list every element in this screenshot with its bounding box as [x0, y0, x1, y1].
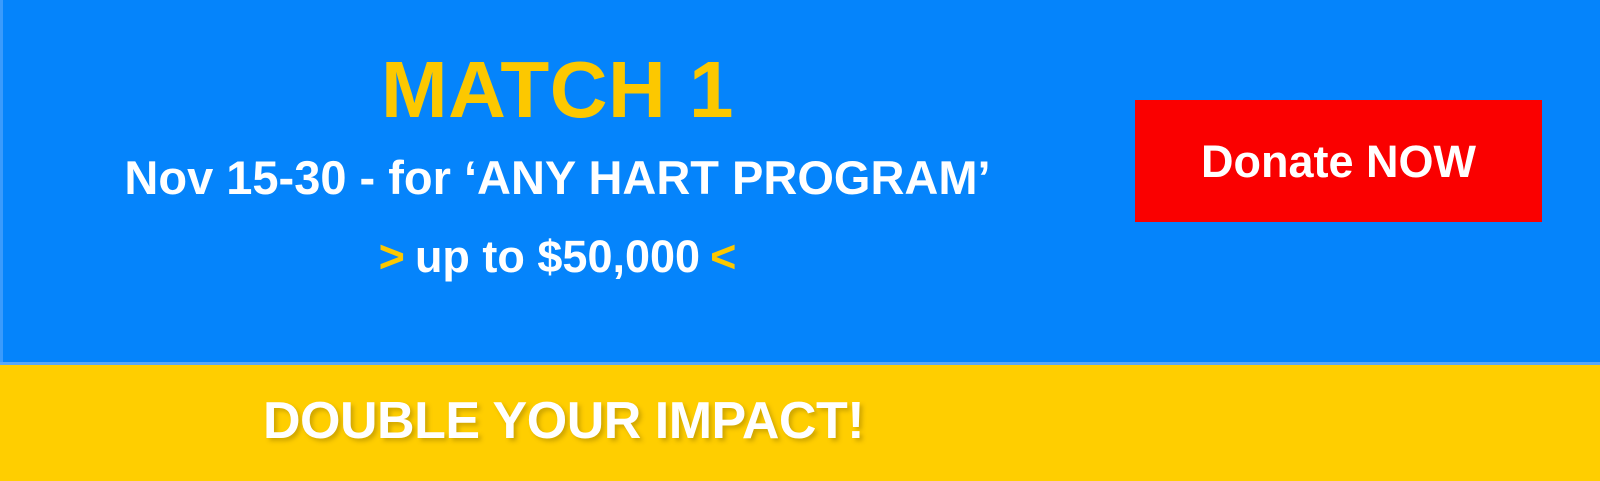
donate-now-button-label: Donate NOW [1201, 139, 1476, 184]
headline-block: MATCH 1 Nov 15-30 - for ‘ANY HART PROGRA… [0, 0, 1115, 365]
match-amount-line: >up to $50,000< [0, 228, 1115, 286]
campaign-date-line: Nov 15-30 - for ‘ANY HART PROGRAM’ [0, 148, 1115, 208]
donation-match-banner: MATCH 1 Nov 15-30 - for ‘ANY HART PROGRA… [0, 0, 1600, 481]
double-your-impact-text: DOUBLE YOUR IMPACT! [263, 390, 864, 452]
match-amount-text: up to $50,000 [415, 231, 700, 282]
arrow-right-glyph-icon: > [379, 231, 405, 282]
match-title: MATCH 1 [0, 44, 1115, 136]
yellow-panel: DOUBLE YOUR IMPACT! [0, 365, 1600, 481]
blue-panel: MATCH 1 Nov 15-30 - for ‘ANY HART PROGRA… [0, 0, 1600, 365]
arrow-left-glyph-icon: < [710, 231, 736, 282]
donate-now-button[interactable]: Donate NOW [1135, 100, 1542, 222]
